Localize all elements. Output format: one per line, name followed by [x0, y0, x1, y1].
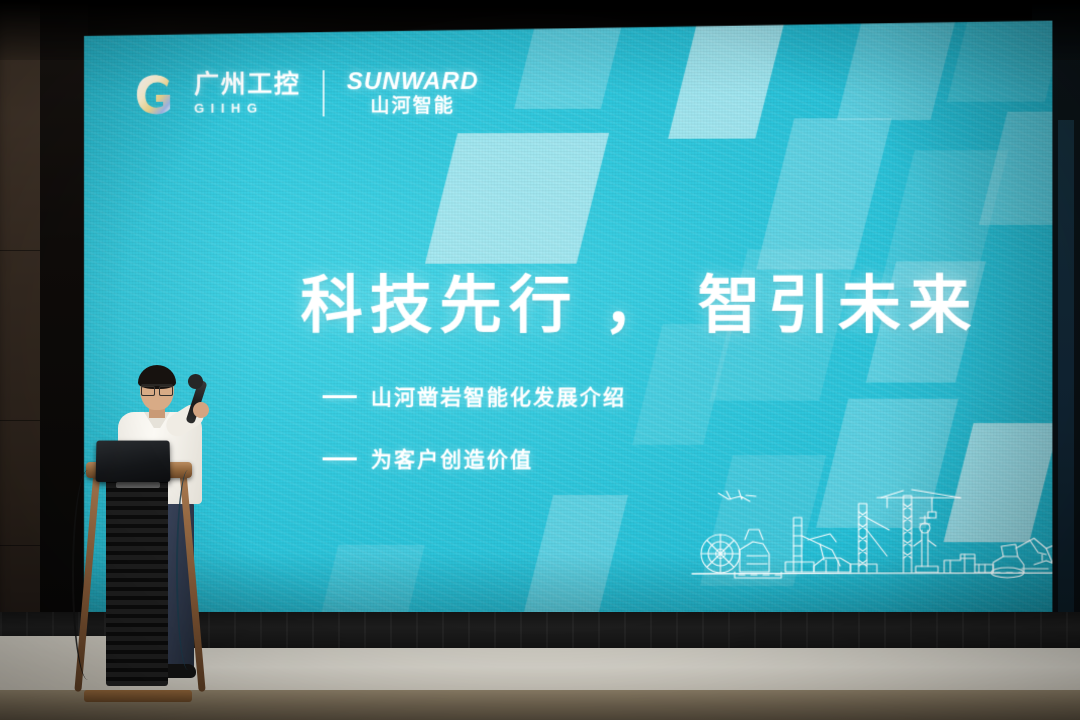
- dash-rule-icon: [323, 395, 357, 398]
- partner-brand-en: SUNWARD: [347, 70, 479, 94]
- slide-subtitle-2: 为客户创造价值: [323, 443, 979, 474]
- slide-subtitle-1-text: 山河凿岩智能化发展介绍: [371, 381, 626, 411]
- slide-logo-lockup: 广州工控 GIIHG SUNWARD 山河智能: [132, 69, 479, 118]
- dash-rule-icon: [323, 457, 357, 460]
- primary-brand-block: 广州工控 GIIHG: [194, 72, 300, 114]
- floor-cable: [72, 470, 104, 680]
- lectern-body: [106, 474, 168, 686]
- lectern-base: [84, 690, 192, 702]
- presentation-photo-scene: 广州工控 GIIHG SUNWARD 山河智能 科技先行 ， 智引未来 山河凿岩…: [0, 0, 1080, 720]
- slide-title: 科技先行 ， 智引未来: [300, 273, 978, 339]
- partner-brand-cn: 山河智能: [370, 97, 455, 116]
- wall-right-accent-strip: [1058, 120, 1074, 680]
- logo-divider: [323, 70, 325, 116]
- glasses-icon: [141, 384, 173, 394]
- slide-text-block: 科技先行 ， 智引未来 山河凿岩智能化发展介绍 为客户创造价值: [300, 273, 978, 474]
- brand-name-en: GIIHG: [194, 102, 264, 115]
- brand-name-cn: 广州工控: [194, 72, 300, 97]
- slide-subtitle-2-text: 为客户创造价值: [371, 443, 533, 473]
- lectern-nameplate: [116, 482, 160, 488]
- mic-cable: [176, 470, 200, 670]
- presenter-laptop: [96, 441, 171, 482]
- partner-brand-block: SUNWARD 山河智能: [347, 70, 479, 117]
- giihg-g-mark-icon: [132, 70, 182, 118]
- slide-subtitle-1: 山河凿岩智能化发展介绍: [323, 381, 979, 412]
- presenter-hand: [193, 402, 209, 418]
